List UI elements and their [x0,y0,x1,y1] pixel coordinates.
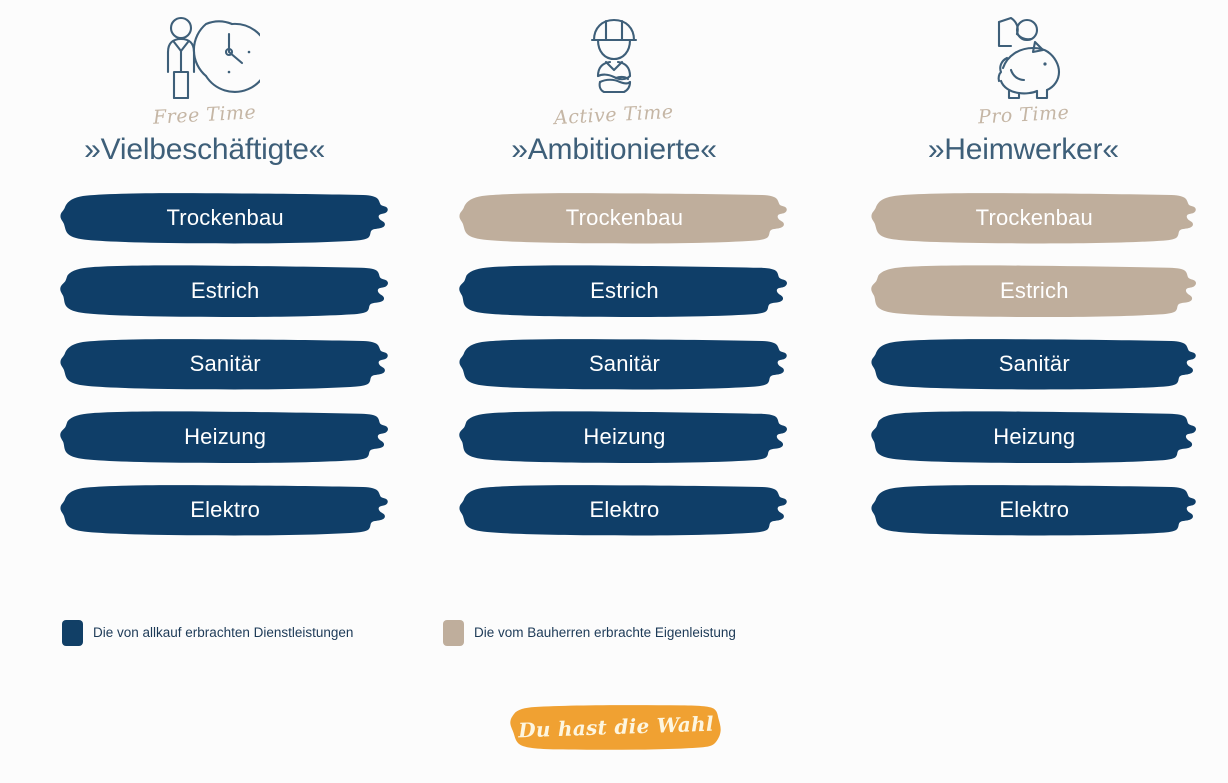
service-bar-label: Sanitär [589,353,660,375]
service-bar[interactable]: Heizung [459,409,789,465]
piggy-bank-icon [977,12,1069,104]
service-bar-label: Estrich [191,280,260,302]
persona-column-heimwerker: Pro Time »Heimwerker« Trockenbau Estrich… [819,0,1228,570]
person-with-clock-icon [150,12,260,104]
service-bar[interactable]: Trockenbau [60,190,390,246]
service-bar[interactable]: Elektro [60,482,390,538]
service-bar-label: Estrich [590,280,659,302]
service-bar-label: Trockenbau [566,207,683,229]
worker-with-helmet-icon [568,12,660,104]
service-bar[interactable]: Estrich [459,263,789,319]
legend-swatch-navy [62,620,83,646]
persona-column-ambitionierte: Active Time »Ambitionierte« Trockenbau E… [409,0,818,570]
service-bar[interactable]: Trockenbau [871,190,1198,246]
service-bar-label: Sanitär [190,353,261,375]
column-script-label: Active Time [554,103,674,128]
infographic-stage: Free Time »Vielbeschäftigte« Trockenbau … [0,0,1228,783]
column-header: Active Time »Ambitionierte« [409,0,818,190]
legend-item-dienstleistungen: Die von allkauf erbrachten Dienstleistun… [62,620,353,646]
service-bar-label: Elektro [190,499,260,521]
service-bar[interactable]: Heizung [60,409,390,465]
service-bars: Trockenbau Estrich Sanitär Heizung Elekt… [60,190,390,538]
service-bar[interactable]: Estrich [871,263,1198,319]
legend-item-eigenleistung: Die vom Bauherren erbrachte Eigenleistun… [443,620,736,646]
column-title: »Heimwerker« [928,135,1119,165]
service-bar[interactable]: Trockenbau [459,190,789,246]
column-header: Pro Time »Heimwerker« [819,0,1228,190]
service-bar-label: Trockenbau [166,207,283,229]
service-bar-label: Trockenbau [976,207,1093,229]
legend-label: Die vom Bauherren erbrachte Eigenleistun… [474,626,736,640]
service-bar-label: Heizung [583,426,665,448]
service-bar[interactable]: Sanitär [871,336,1198,392]
persona-columns: Free Time »Vielbeschäftigte« Trockenbau … [0,0,1228,570]
cta-badge[interactable]: Du hast die Wahl [509,703,723,751]
persona-column-vielbeschaeftigte: Free Time »Vielbeschäftigte« Trockenbau … [0,0,409,570]
service-bar-label: Sanitär [999,353,1070,375]
column-header: Free Time »Vielbeschäftigte« [0,0,409,190]
service-bar-label: Heizung [993,426,1075,448]
service-bar[interactable]: Sanitär [459,336,789,392]
legend-swatch-beige [443,620,464,646]
service-bars: Trockenbau Estrich Sanitär Heizung Elekt… [871,190,1198,538]
column-title: »Ambitionierte« [511,135,716,165]
service-bar-label: Elektro [999,499,1069,521]
service-bar-label: Estrich [1000,280,1069,302]
column-script-label: Free Time [153,103,257,127]
service-bar[interactable]: Sanitär [60,336,390,392]
service-bar[interactable]: Elektro [459,482,789,538]
legend-label: Die von allkauf erbrachten Dienstleistun… [93,626,353,640]
service-bars: Trockenbau Estrich Sanitär Heizung Elekt… [459,190,789,538]
service-bar[interactable]: Heizung [871,409,1198,465]
service-bar[interactable]: Estrich [60,263,390,319]
column-title: »Vielbeschäftigte« [84,135,325,165]
service-bar-label: Heizung [184,426,266,448]
column-script-label: Pro Time [977,104,1069,128]
legend: Die von allkauf erbrachten Dienstleistun… [0,620,1228,660]
service-bar[interactable]: Elektro [871,482,1198,538]
cta-label: Du hast die Wahl [508,699,724,754]
service-bar-label: Elektro [590,499,660,521]
